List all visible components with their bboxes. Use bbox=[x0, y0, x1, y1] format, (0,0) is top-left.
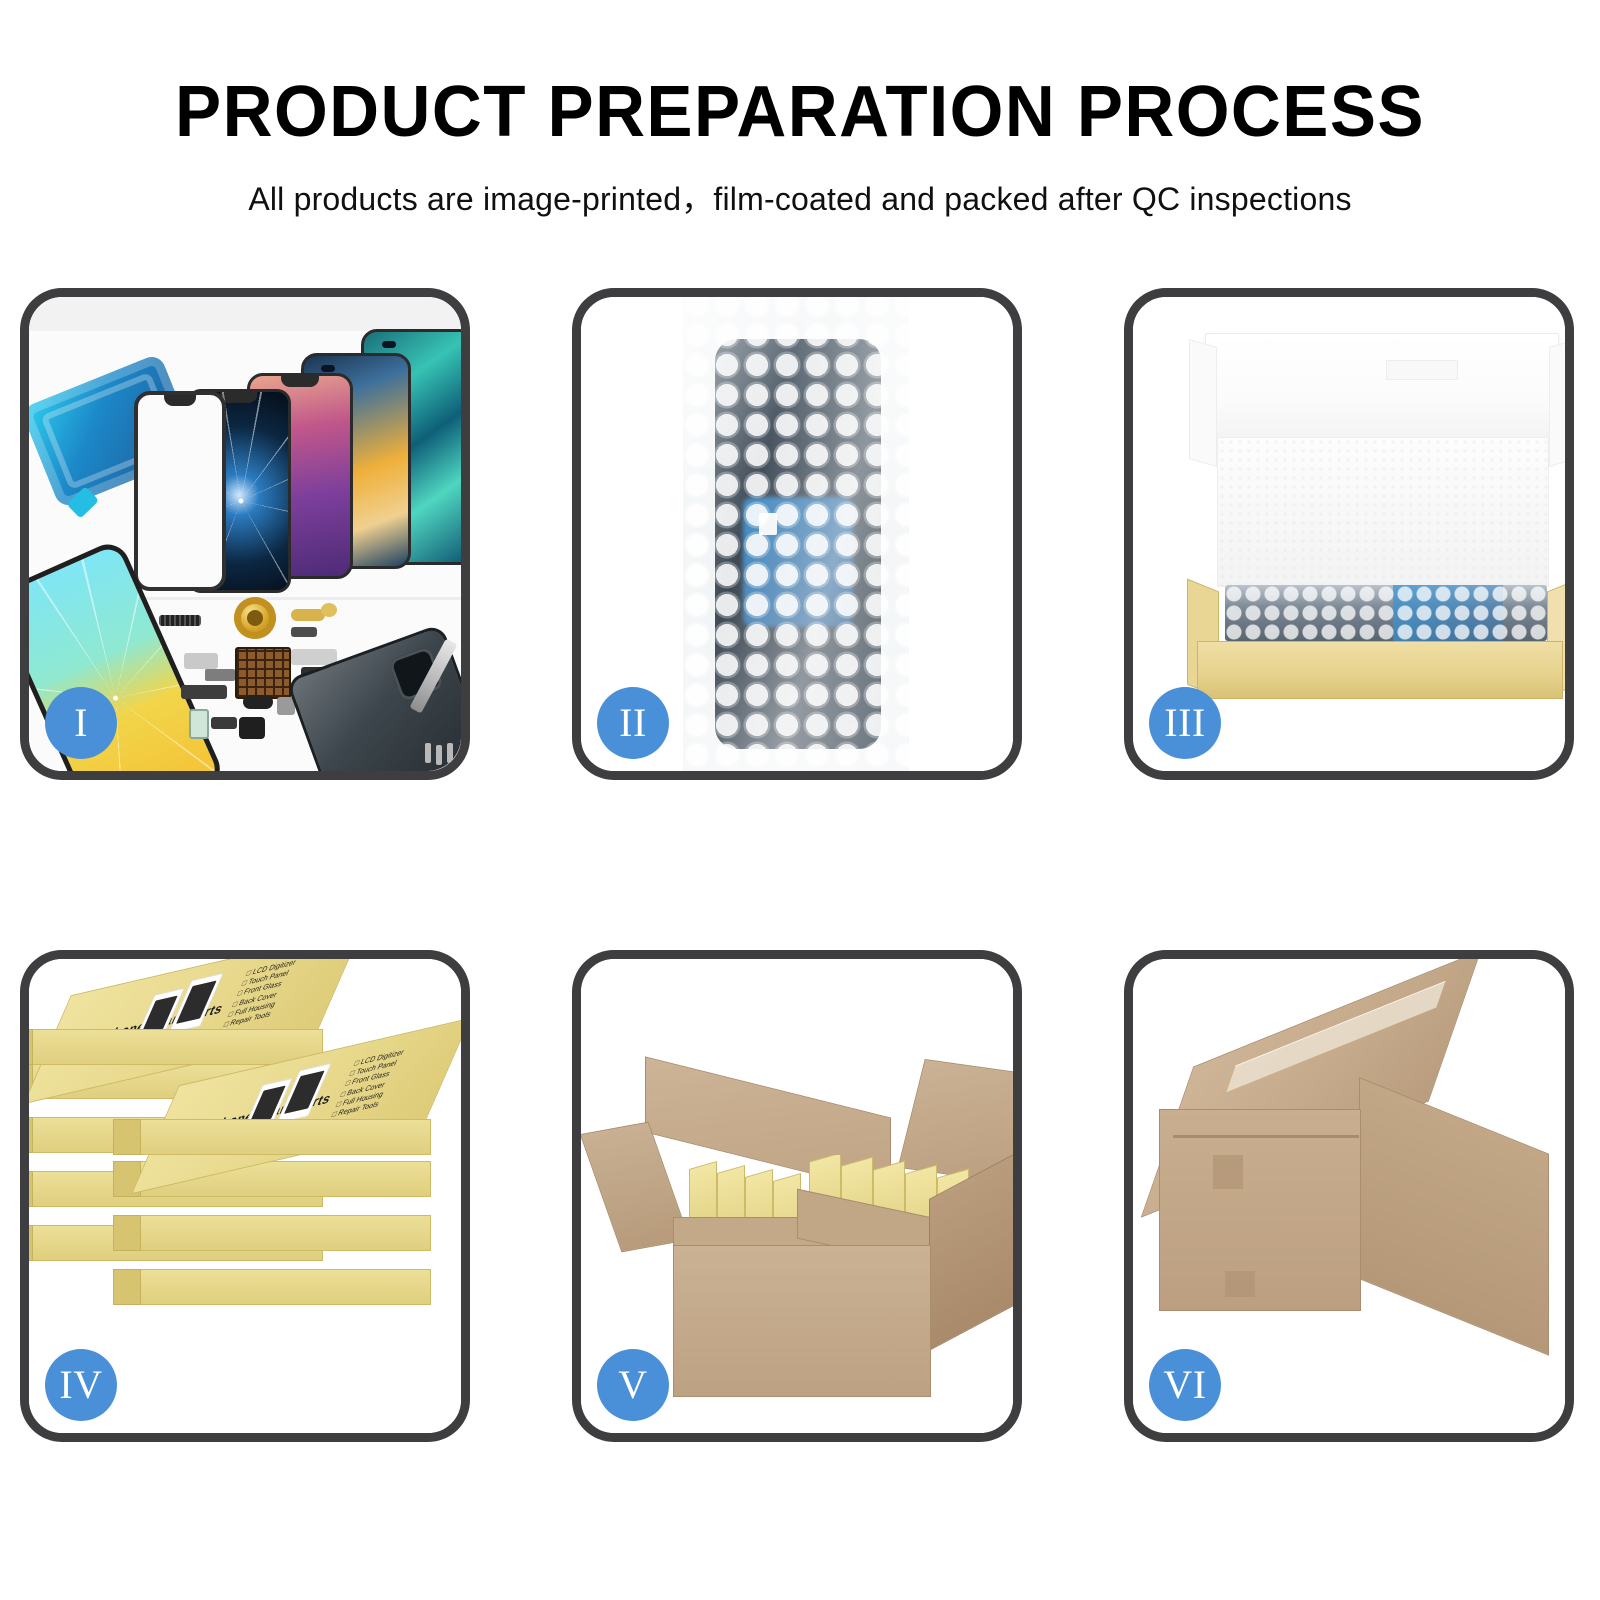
bubble-wrap-bubbles bbox=[1225, 585, 1547, 641]
page-subtitle: All products are image-printed，film-coat… bbox=[0, 174, 1600, 220]
carton-flap-tab bbox=[1225, 1271, 1255, 1297]
process-step-panel-3[interactable]: III bbox=[1124, 288, 1574, 780]
screws-set bbox=[425, 743, 461, 767]
display-notch bbox=[164, 395, 196, 406]
sim-tray-part bbox=[189, 709, 209, 739]
box-side-face bbox=[29, 1029, 33, 1065]
flex-ribbon-part bbox=[181, 685, 227, 699]
step-badge-2: II bbox=[597, 687, 669, 759]
front-glass-panel bbox=[134, 391, 226, 591]
step-badge-4: IV bbox=[45, 1349, 117, 1421]
flex-cable-part bbox=[291, 609, 325, 621]
page-header: PRODUCT PREPARATION PROCESS All products… bbox=[0, 0, 1600, 220]
page-title: PRODUCT PREPARATION PROCESS bbox=[32, 76, 1568, 148]
vibrator-motor-part bbox=[243, 695, 273, 709]
box-lid-side-right bbox=[1549, 339, 1565, 467]
wireless-charging-coil-part bbox=[234, 597, 276, 639]
carton-front-face bbox=[673, 1245, 931, 1397]
process-step-panel-2[interactable]: II bbox=[572, 288, 1022, 780]
box-side-face bbox=[113, 1269, 141, 1305]
box-front-face bbox=[139, 1119, 431, 1155]
bubble-wrapped-product-in-box bbox=[1225, 585, 1547, 641]
process-step-panel-5[interactable]: V bbox=[572, 950, 1022, 1442]
earpiece-speaker-part bbox=[159, 615, 201, 626]
speaker-module-part bbox=[239, 717, 265, 739]
box-front-face bbox=[31, 1029, 323, 1065]
step-badge-3: III bbox=[1149, 687, 1221, 759]
process-step-panel-4[interactable]: Mobile Phone Spare Parts LCD Digitizer T… bbox=[20, 950, 470, 1442]
punch-hole-camera bbox=[382, 341, 396, 348]
button-flex-part bbox=[291, 627, 317, 637]
screw bbox=[436, 745, 442, 765]
small-connector-part bbox=[205, 669, 235, 681]
box-lid-side-left bbox=[1189, 339, 1217, 467]
process-step-panel-1[interactable]: I bbox=[20, 288, 470, 780]
carton-left-face bbox=[1159, 1109, 1361, 1311]
box-front-face bbox=[139, 1215, 431, 1251]
gold-connector-part bbox=[321, 603, 337, 617]
camera-module-part bbox=[184, 653, 218, 669]
carton-seam-line bbox=[1173, 1135, 1359, 1138]
box-lid-flap bbox=[1205, 333, 1559, 447]
display-notch bbox=[281, 376, 319, 387]
step-badge-1: I bbox=[45, 687, 117, 759]
retail-box-checklist: LCD Digitizer Touch Panel Front Glass Ba… bbox=[330, 1048, 406, 1121]
step-badge-5: V bbox=[597, 1349, 669, 1421]
box-lid-tab bbox=[1386, 360, 1458, 380]
adhesive-tab bbox=[66, 486, 99, 518]
box-side-face bbox=[29, 1225, 33, 1261]
foam-sheet bbox=[1217, 437, 1549, 587]
screw bbox=[447, 743, 453, 763]
box-side-face bbox=[113, 1215, 141, 1251]
process-step-grid: I II bbox=[20, 288, 1580, 1442]
carton-flap-tab bbox=[1213, 1155, 1243, 1189]
step-badge-6: VI bbox=[1149, 1349, 1221, 1421]
charging-port-part bbox=[211, 717, 237, 729]
box-side-face bbox=[29, 1171, 33, 1207]
foam-texture bbox=[1218, 438, 1548, 586]
box-tray-front-wall bbox=[1197, 641, 1563, 699]
carton-right-face bbox=[1359, 1077, 1549, 1356]
process-step-panel-6[interactable]: VI bbox=[1124, 950, 1574, 1442]
ic-chip-part bbox=[235, 647, 291, 699]
screw bbox=[425, 743, 431, 763]
box-side-face bbox=[113, 1119, 141, 1155]
collage-backdrop-band bbox=[29, 297, 461, 331]
box-front-face bbox=[139, 1269, 431, 1305]
plastic-gloss-highlight bbox=[683, 297, 909, 771]
box-side-face bbox=[29, 1117, 33, 1153]
punch-hole-camera bbox=[321, 365, 335, 372]
retail-box-checklist: LCD Digitizer Touch Panel Front Glass Ba… bbox=[222, 959, 298, 1031]
